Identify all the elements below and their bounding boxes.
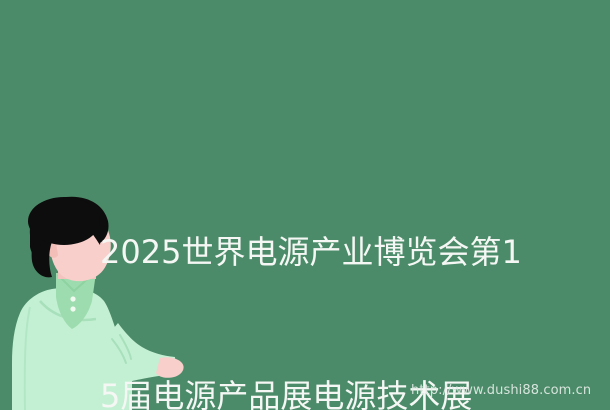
headline-line-1: 2025世界电源产业博览会第1 [100,228,520,276]
watermark-url: http://www.dushi88.com.cn [411,383,591,399]
page-title: 2025世界电源产业博览会第1 5届电源产品展电源技术展 [100,132,520,410]
banner-canvas: 2025世界电源产业博览会第1 5届电源产品展电源技术展 http://www.… [0,0,610,410]
